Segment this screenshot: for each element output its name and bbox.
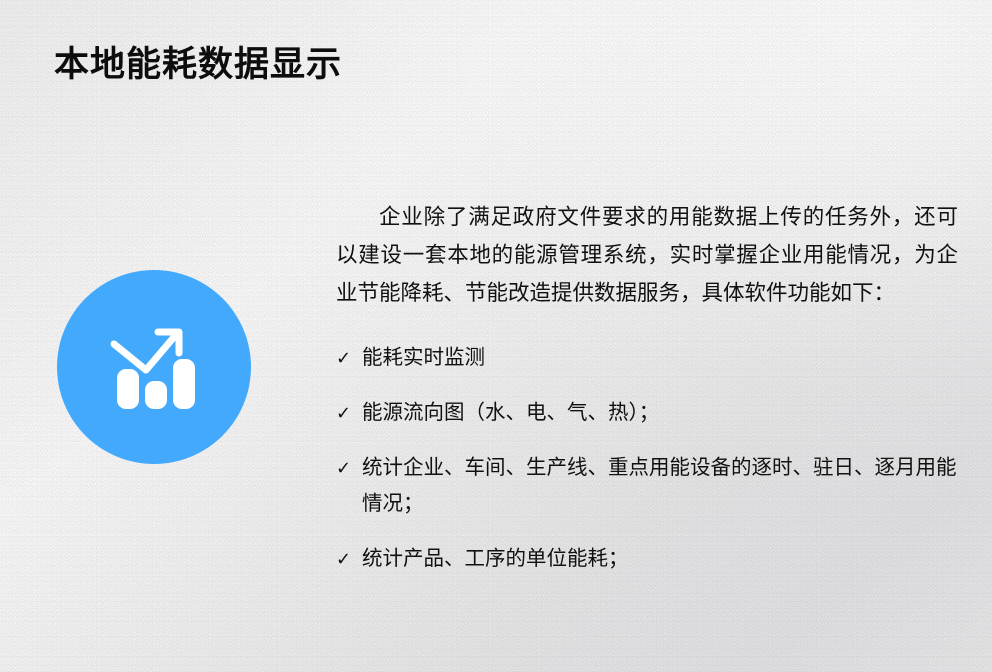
lead-paragraph: 企业除了满足政府文件要求的用能数据上传的任务外，还可以建设一套本地的能源管理系统… — [336, 198, 958, 312]
growth-chart-badge — [57, 270, 251, 464]
list-item-label: 能源流向图（水、电、气、热）； — [362, 401, 659, 424]
check-icon: ✓ — [336, 450, 351, 486]
list-item: ✓ 统计企业、车间、生产线、重点用能设备的逐时、驻日、逐月用能情况； — [336, 450, 958, 522]
feature-list: ✓ 能耗实时监测 ✓ 能源流向图（水、电、气、热）； ✓ 统计企业、车间、生产线… — [336, 340, 958, 577]
list-item: ✓ 统计产品、工序的单位能耗； — [336, 541, 958, 577]
growth-chart-icon — [108, 323, 200, 411]
check-icon: ✓ — [336, 340, 351, 376]
check-icon: ✓ — [336, 541, 351, 577]
list-item-label: 统计产品、工序的单位能耗； — [362, 547, 629, 570]
list-item-label: 能耗实时监测 — [362, 346, 485, 369]
list-item: ✓ 能源流向图（水、电、气、热）； — [336, 395, 958, 431]
content-block: 企业除了满足政府文件要求的用能数据上传的任务外，还可以建设一套本地的能源管理系统… — [336, 198, 958, 577]
check-icon: ✓ — [336, 395, 351, 431]
page-title: 本地能耗数据显示 — [54, 42, 342, 88]
list-item: ✓ 能耗实时监测 — [336, 340, 958, 376]
list-item-label: 统计企业、车间、生产线、重点用能设备的逐时、驻日、逐月用能情况； — [362, 456, 957, 515]
slide-canvas: 本地能耗数据显示 企业除了满足政府文件要求的用能数据上传的任务外，还可以建设一套… — [0, 0, 992, 672]
